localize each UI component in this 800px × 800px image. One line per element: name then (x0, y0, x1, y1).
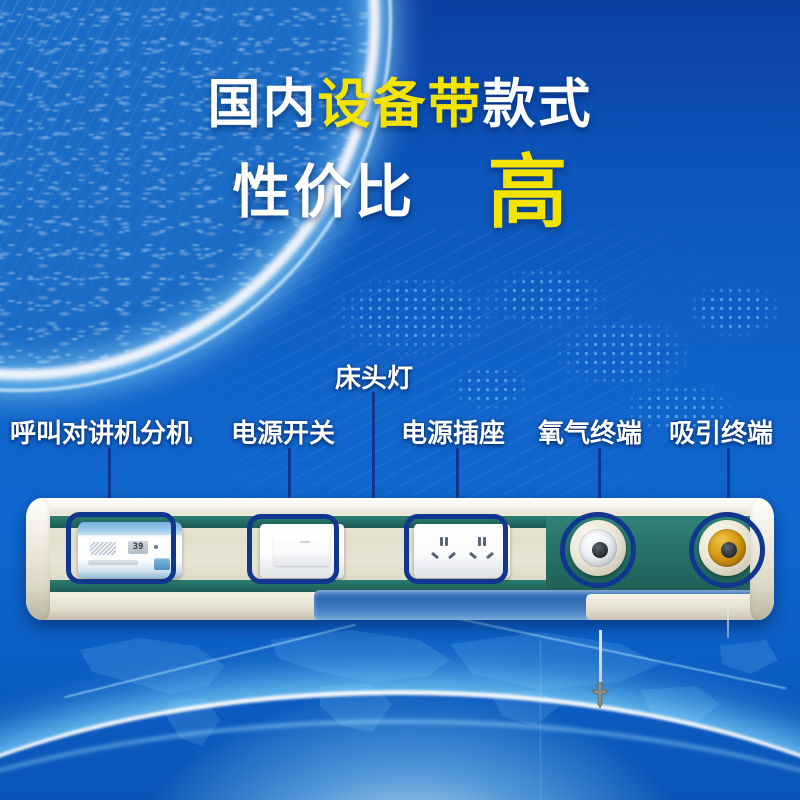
light-ray-3 (540, 640, 541, 800)
panel-endcap-left (26, 498, 50, 620)
headline-seg-2: 设备带 (318, 75, 483, 134)
highlight-intercom (66, 512, 176, 584)
headline-line-2: 性价比高 (0, 153, 800, 233)
suction-drain-tube (727, 600, 729, 638)
headline-seg-3: 款式 (483, 75, 593, 134)
callout-label-power-switch: 电源开关 (231, 413, 335, 450)
product-poster: 国内设备带款式 性价比高 呼叫对讲机分机 电源开关 床头灯 电源插座 氧气终端 … (0, 0, 800, 800)
highlight-suction (689, 512, 765, 588)
pull-cord-handle-icon[interactable] (589, 682, 611, 708)
headline-seg-1: 国内 (208, 75, 318, 134)
panel-lower-rail-right (586, 594, 774, 620)
highlight-oxygen (560, 512, 636, 588)
callout-label-intercom: 呼叫对讲机分机 (10, 413, 192, 450)
highlight-power-socket (404, 514, 508, 584)
highlight-power-switch (247, 514, 339, 584)
headline-line-1: 国内设备带款式 (0, 78, 800, 131)
callout-label-oxygen: 氧气终端 (538, 413, 642, 450)
panel-lower-rail-left (26, 594, 326, 620)
headline-accent-text: 高 (488, 153, 568, 233)
callout-label-power-socket: 电源插座 (401, 413, 505, 450)
callout-label-bed-lamp: 床头灯 (335, 358, 413, 395)
callout-label-suction: 吸引终端 (669, 413, 773, 450)
pull-cord (599, 630, 602, 690)
headline-block: 国内设备带款式 性价比高 (0, 78, 800, 233)
headline-value-text: 性价比 (232, 164, 415, 222)
